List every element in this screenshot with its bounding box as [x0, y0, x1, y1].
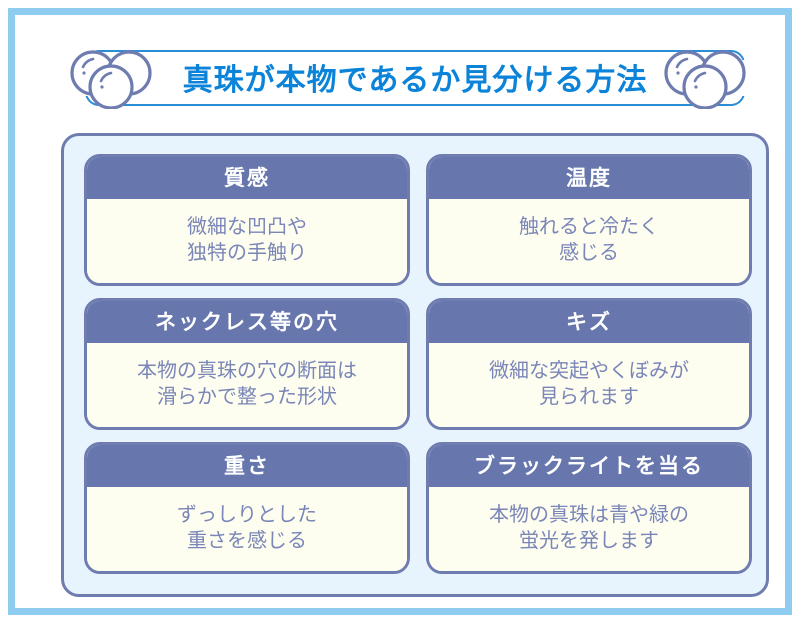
- card-title: 質感: [87, 157, 407, 199]
- card-title: キズ: [429, 301, 749, 343]
- title-band: 真珠が本物であるか見分ける方法: [71, 47, 759, 109]
- card-body-line: 独特の手触り: [187, 239, 307, 265]
- pearl-cluster-icon-right: [657, 47, 767, 109]
- card-body-line: ずっしりとした: [177, 501, 317, 527]
- card-necklace-hole: ネックレス等の穴 本物の真珠の穴の断面は 滑らかで整った形状: [84, 298, 410, 430]
- card-title: 重さ: [87, 445, 407, 487]
- card-body-line: 重さを感じる: [187, 527, 307, 553]
- card-body-line: 本物の真珠は青や緑の: [489, 501, 689, 527]
- card-temperature: 温度 触れると冷たく 感じる: [426, 154, 752, 286]
- page-title: 真珠が本物であるか見分ける方法: [71, 55, 759, 99]
- card-blacklight: ブラックライトを当る 本物の真珠は青や緑の 蛍光を発します: [426, 442, 752, 574]
- card-scratches: キズ 微細な突起やくぼみが 見られます: [426, 298, 752, 430]
- card-body-line: 本物の真珠の穴の断面は: [137, 357, 357, 383]
- card-body-line: 感じる: [559, 239, 619, 265]
- card-body-line: 微細な凹凸や: [187, 213, 307, 239]
- card-title: 温度: [429, 157, 749, 199]
- card-body-line: 滑らかで整った形状: [157, 383, 337, 409]
- card-texture: 質感 微細な凹凸や 独特の手触り: [84, 154, 410, 286]
- card-title: ブラックライトを当る: [429, 445, 749, 487]
- card-body: 本物の真珠の穴の断面は 滑らかで整った形状: [87, 343, 407, 427]
- card-body: 微細な凹凸や 独特の手触り: [87, 199, 407, 283]
- pearl-cluster-icon-left: [63, 47, 173, 109]
- card-body-line: 触れると冷たく: [519, 213, 659, 239]
- card-body: ずっしりとした 重さを感じる: [87, 487, 407, 571]
- card-title: ネックレス等の穴: [87, 301, 407, 343]
- outer-frame: 真珠が本物であるか見分ける方法: [8, 8, 792, 615]
- card-body: 触れると冷たく 感じる: [429, 199, 749, 283]
- card-body: 本物の真珠は青や緑の 蛍光を発します: [429, 487, 749, 571]
- card-body-line: 蛍光を発します: [519, 527, 659, 553]
- card-body: 微細な突起やくぼみが 見られます: [429, 343, 749, 427]
- card-weight: 重さ ずっしりとした 重さを感じる: [84, 442, 410, 574]
- card-body-line: 微細な突起やくぼみが: [489, 357, 689, 383]
- content-panel: 質感 微細な凹凸や 独特の手触り 温度 触れると冷たく 感じる ネックレス等の穴…: [61, 133, 769, 597]
- card-grid: 質感 微細な凹凸や 独特の手触り 温度 触れると冷たく 感じる ネックレス等の穴…: [84, 154, 752, 574]
- card-body-line: 見られます: [539, 383, 639, 409]
